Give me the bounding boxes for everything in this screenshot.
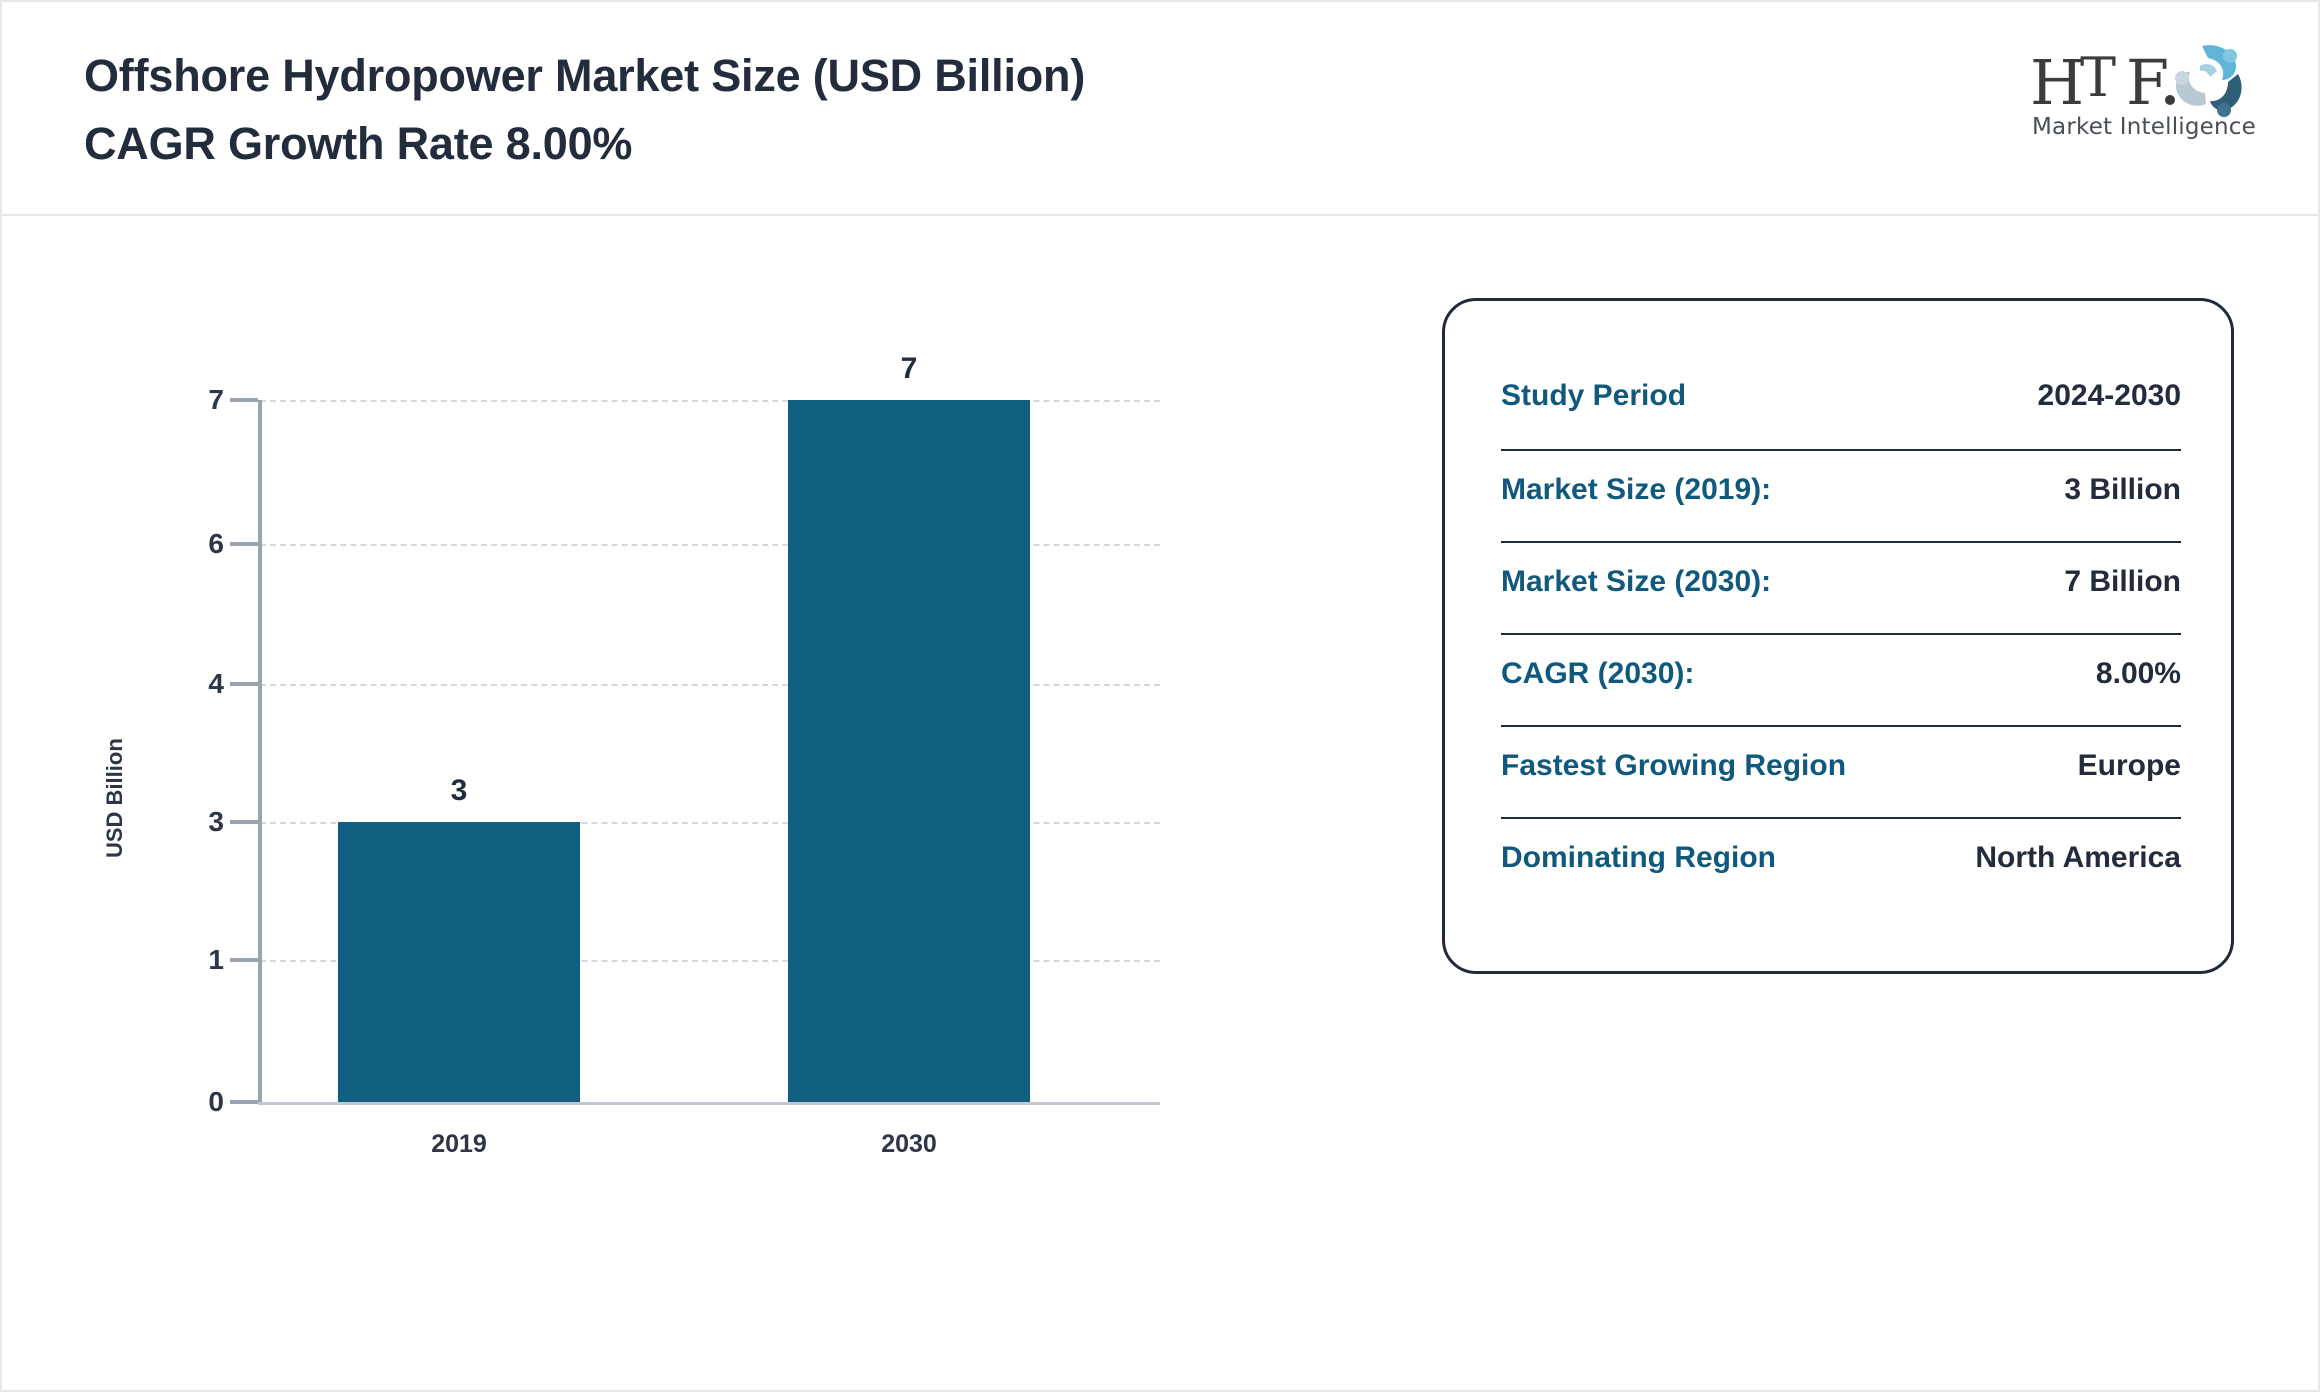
page-title: Offshore Hydropower Market Size (USD Bil… <box>84 42 1085 178</box>
header: Offshore Hydropower Market Size (USD Bil… <box>2 2 2318 216</box>
summary-row-label: CAGR (2030): <box>1501 657 1694 691</box>
summary-row-value: North America <box>1975 841 2181 875</box>
market-summary-card: Study Period2024-2030Market Size (2019):… <box>1442 298 2234 974</box>
svg-text:T: T <box>2080 46 2116 109</box>
summary-row: CAGR (2030):8.00% <box>1501 633 2181 725</box>
bar-value-label: 7 <box>901 352 918 386</box>
summary-row-value: Europe <box>2078 749 2181 783</box>
y-tick-label: 0 <box>162 1086 224 1118</box>
market-report-infographic: Offshore Hydropower Market Size (USD Bil… <box>0 0 2320 1392</box>
x-tick-label: 2030 <box>881 1130 937 1159</box>
summary-row-label: Market Size (2019): <box>1501 473 1771 507</box>
y-tick-label: 7 <box>162 384 224 416</box>
summary-row: Study Period2024-2030 <box>1501 357 2181 449</box>
y-tick-label: 1 <box>162 944 224 976</box>
y-tick-label: 4 <box>162 668 224 700</box>
summary-row: Fastest Growing RegionEurope <box>1501 725 2181 817</box>
bar[interactable] <box>338 822 580 1102</box>
summary-row-label: Study Period <box>1501 379 1686 413</box>
htf-market-intelligence-logo: H T F Market Intelligence <box>2024 38 2264 150</box>
bar-value-label: 3 <box>451 774 468 808</box>
y-tick-mark <box>230 820 258 824</box>
x-axis-line <box>258 1102 1160 1105</box>
title-line-2: CAGR Growth Rate 8.00% <box>84 110 1085 178</box>
y-tick-mark <box>230 1100 258 1104</box>
summary-row-value: 2024-2030 <box>2038 379 2181 413</box>
summary-row: Market Size (2030):7 Billion <box>1501 541 2181 633</box>
title-line-1: Offshore Hydropower Market Size (USD Bil… <box>84 42 1085 110</box>
svg-text:F: F <box>2126 46 2169 118</box>
y-tick-label: 6 <box>162 528 224 560</box>
logo-tagline: Market Intelligence <box>2024 114 2264 140</box>
y-tick-mark <box>230 682 258 686</box>
htf-logo-icon: H T F <box>2024 38 2264 118</box>
summary-row-label: Fastest Growing Region <box>1501 749 1846 783</box>
summary-row-value: 3 Billion <box>2064 473 2181 507</box>
summary-row-value: 8.00% <box>2096 657 2181 691</box>
summary-row: Market Size (2019):3 Billion <box>1501 449 2181 541</box>
y-tick-mark <box>230 958 258 962</box>
summary-row-value: 7 Billion <box>2064 565 2181 599</box>
y-tick-mark <box>230 398 258 402</box>
y-tick-mark <box>230 542 258 546</box>
bar-chart: 013467 37 20192030 USD Billion <box>2 218 1402 1392</box>
x-tick-label: 2019 <box>431 1130 487 1159</box>
y-axis-title: USD Billion <box>102 738 128 858</box>
y-tick-label: 3 <box>162 806 224 838</box>
summary-row-label: Market Size (2030): <box>1501 565 1771 599</box>
y-axis-line <box>258 400 262 1104</box>
bar[interactable] <box>788 400 1030 1102</box>
summary-row-label: Dominating Region <box>1501 841 1776 875</box>
svg-text:H: H <box>2030 46 2084 118</box>
summary-row: Dominating RegionNorth America <box>1501 817 2181 909</box>
summary-rows: Study Period2024-2030Market Size (2019):… <box>1501 357 2181 909</box>
